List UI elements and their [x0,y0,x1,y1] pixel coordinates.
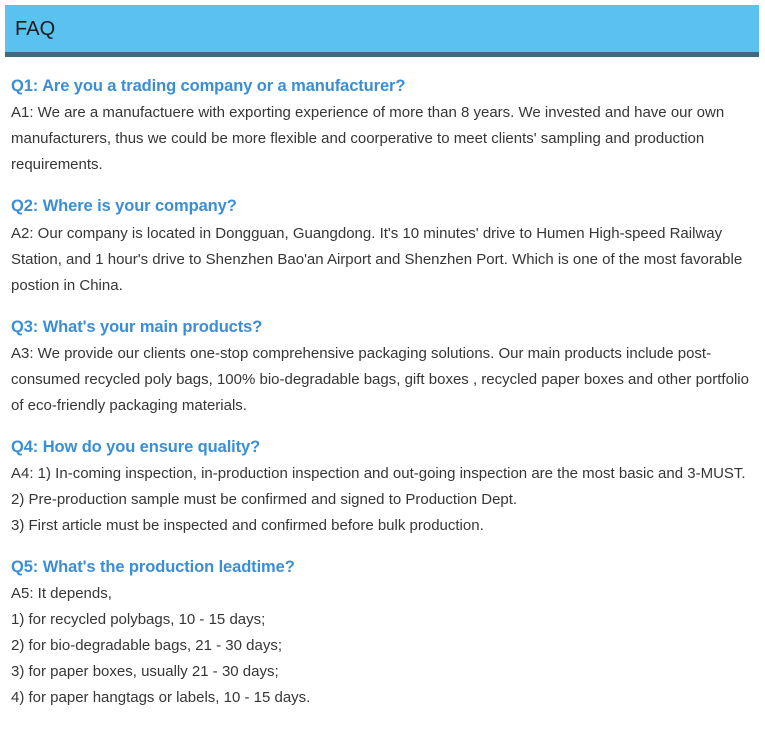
faq-question-3: Q3: What's your main products? [11,316,750,338]
faq-answer-line: A5: It depends, [11,581,750,607]
faq-answer-line: 3) for paper boxes, usually 21 - 30 days… [11,659,750,685]
faq-answer-3: A3: We provide our clients one-stop comp… [11,341,750,419]
faq-answer-line: A4: 1) In-coming inspection, in-producti… [11,461,750,487]
faq-banner: FAQ [5,5,759,57]
faq-item-5: Q5: What's the production leadtime? A5: … [11,556,750,711]
faq-answer-2: A2: Our company is located in Dongguan, … [11,221,750,299]
faq-question-5: Q5: What's the production leadtime? [11,556,750,578]
faq-item-1: Q1: Are you a trading company or a manuf… [11,75,750,178]
page-title: FAQ [5,19,55,39]
faq-answer-line: 3) First article must be inspected and c… [11,513,750,539]
faq-question-4: Q4: How do you ensure quality? [11,436,750,458]
faq-item-3: Q3: What's your main products? A3: We pr… [11,316,750,419]
faq-answer-line: A3: We provide our clients one-stop comp… [11,341,750,419]
faq-item-2: Q2: Where is your company? A2: Our compa… [11,195,750,298]
faq-question-1: Q1: Are you a trading company or a manuf… [11,75,750,97]
faq-answer-line: 2) Pre-production sample must be confirm… [11,487,750,513]
faq-answer-4: A4: 1) In-coming inspection, in-producti… [11,461,750,539]
faq-answer-line: A1: We are a manufactuere with exporting… [11,100,750,178]
faq-content: Q1: Are you a trading company or a manuf… [0,75,765,711]
faq-item-4: Q4: How do you ensure quality? A4: 1) In… [11,436,750,539]
faq-answer-line: A2: Our company is located in Dongguan, … [11,221,750,299]
faq-answer-5: A5: It depends, 1) for recycled polybags… [11,581,750,711]
faq-answer-1: A1: We are a manufactuere with exporting… [11,100,750,178]
faq-question-2: Q2: Where is your company? [11,195,750,217]
faq-answer-line: 4) for paper hangtags or labels, 10 - 15… [11,685,750,711]
faq-page: FAQ Q1: Are you a trading company or a m… [0,5,765,753]
faq-answer-line: 1) for recycled polybags, 10 - 15 days; [11,607,750,633]
faq-answer-line: 2) for bio-degradable bags, 21 - 30 days… [11,633,750,659]
